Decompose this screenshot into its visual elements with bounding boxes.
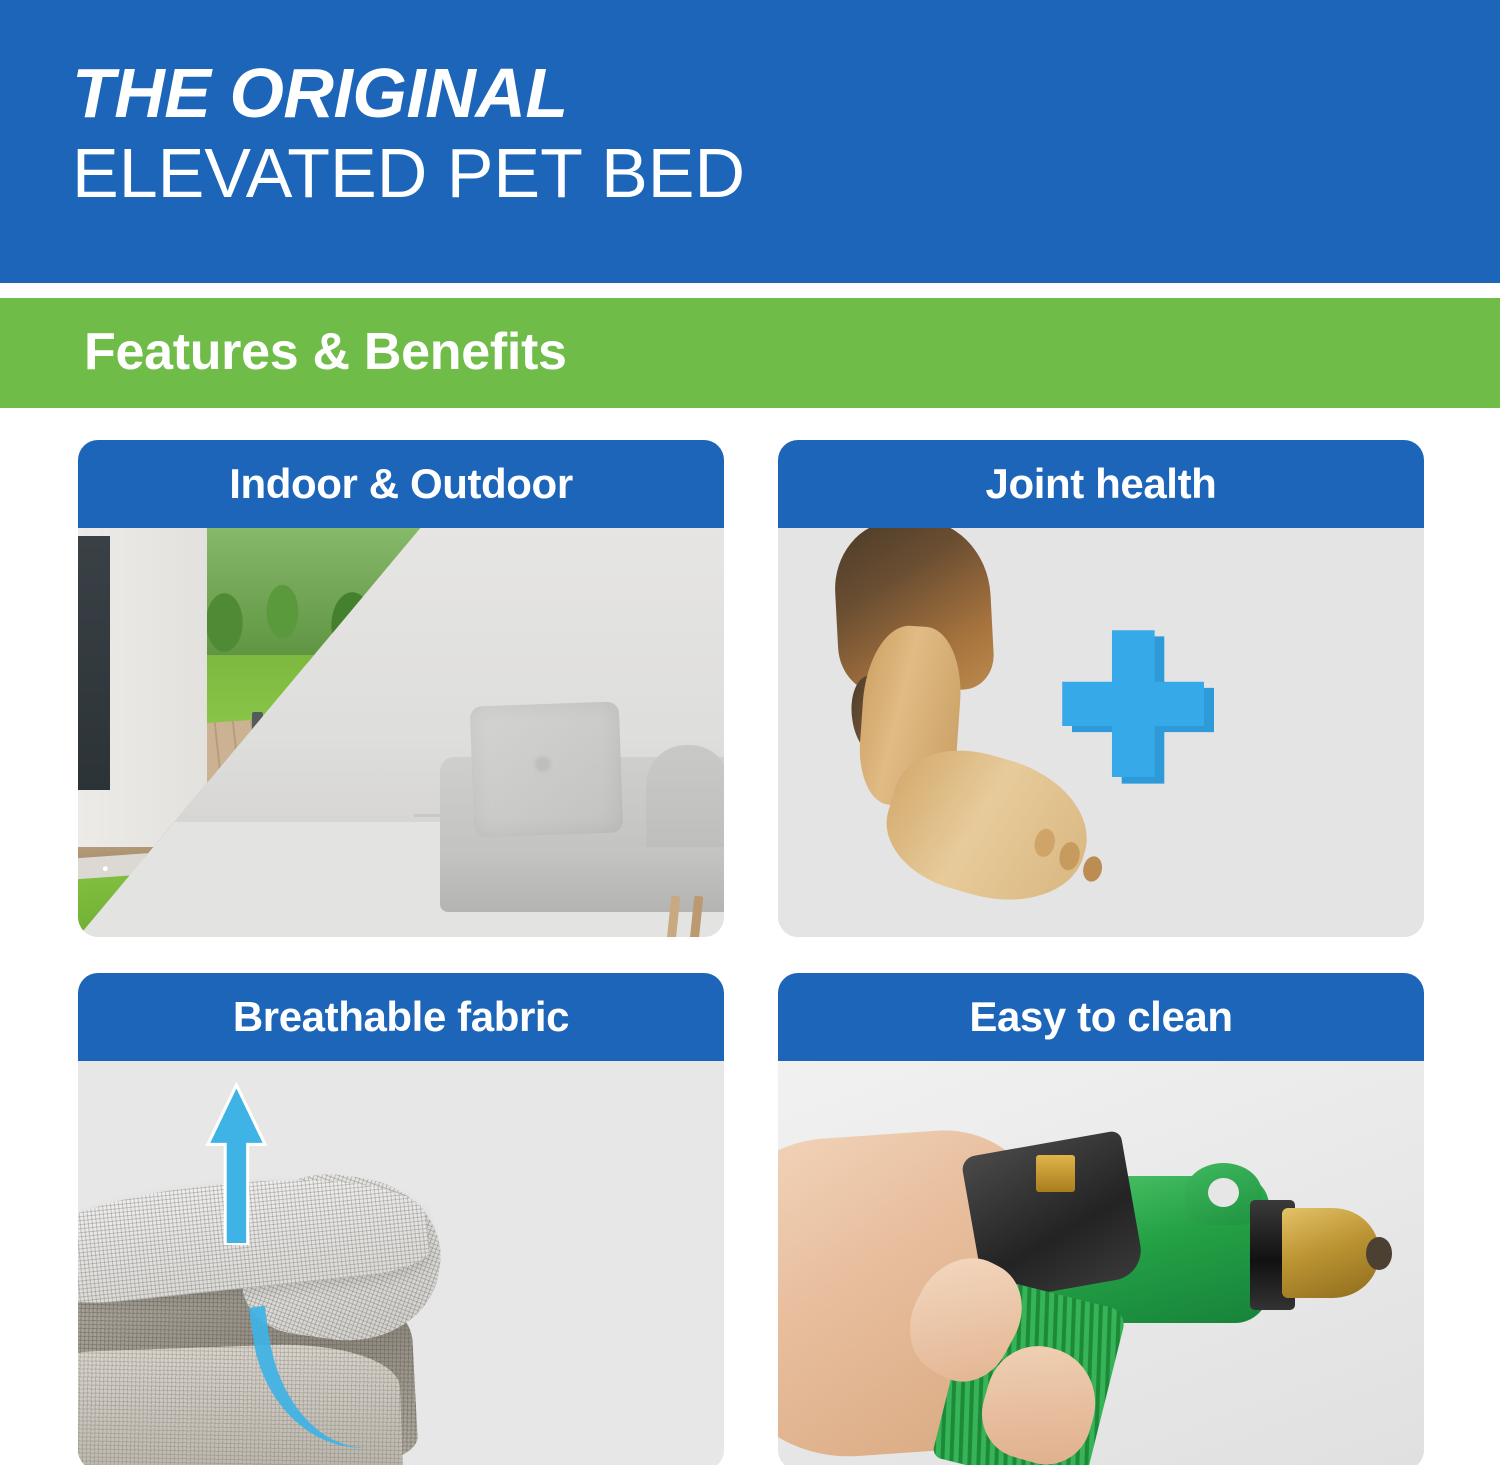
section-heading: Features & Benefits	[84, 322, 567, 382]
card-title: Easy to clean	[969, 996, 1232, 1038]
hero-title-line-1: THE ORIGINAL	[72, 58, 745, 128]
glass-door	[78, 536, 110, 790]
brass-adjust-screw	[1036, 1155, 1075, 1192]
card-header: Joint health	[778, 440, 1424, 528]
card-title: Breathable fabric	[233, 996, 569, 1038]
hero-banner: THE ORIGINAL ELEVATED PET BED	[0, 0, 1500, 283]
card-image-joint-health	[778, 528, 1424, 937]
feature-card-breathable-fabric: Breathable fabric	[78, 973, 724, 1465]
card-title: Indoor & Outdoor	[229, 463, 573, 505]
brass-nozzle-tip	[1282, 1208, 1379, 1298]
features-benefits-banner: Features & Benefits	[0, 298, 1500, 408]
card-image-easy-to-clean	[778, 1061, 1424, 1465]
card-image-breathable-fabric	[78, 1061, 724, 1465]
hero-title-line-2: ELEVATED PET BED	[72, 134, 745, 212]
card-image-indoor-outdoor	[78, 528, 724, 937]
infographic-page: THE ORIGINAL ELEVATED PET BED Features &…	[0, 0, 1500, 1465]
feature-card-easy-to-clean: Easy to clean	[778, 973, 1424, 1465]
airflow-arrow-up-icon	[188, 1081, 285, 1245]
sofa-seat	[440, 847, 724, 912]
feature-card-grid: Indoor & Outdoor	[0, 440, 1500, 1465]
sofa-cushion	[470, 701, 623, 837]
mesh-fabric-photo	[78, 1061, 724, 1465]
dog-leg-photo	[778, 528, 1424, 937]
feature-card-indoor-outdoor: Indoor & Outdoor	[78, 440, 724, 937]
hose-nozzle-photo	[778, 1061, 1424, 1465]
card-header: Indoor & Outdoor	[78, 440, 724, 528]
card-header: Breathable fabric	[78, 973, 724, 1061]
nozzle-outlet	[1366, 1237, 1392, 1270]
card-title: Joint health	[986, 463, 1217, 505]
card-header: Easy to clean	[778, 973, 1424, 1061]
medical-cross-icon	[1062, 630, 1204, 777]
feature-card-joint-health: Joint health	[778, 440, 1424, 937]
split-indoor-outdoor-photo	[78, 528, 724, 937]
hero-title-block: THE ORIGINAL ELEVATED PET BED	[72, 58, 745, 212]
